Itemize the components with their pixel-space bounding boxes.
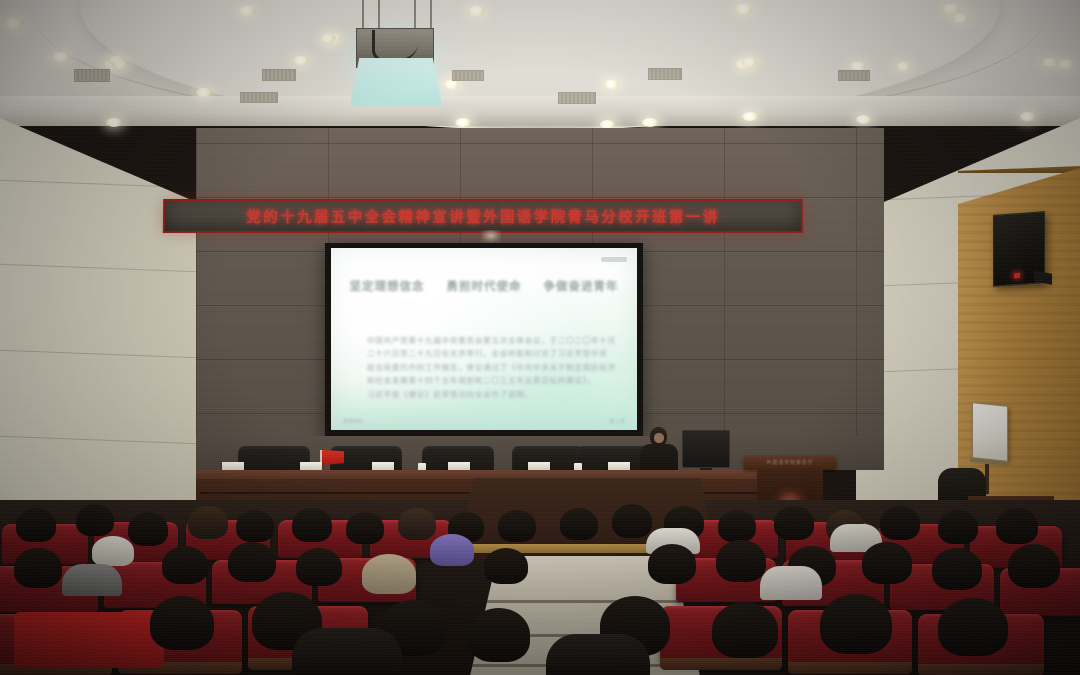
audience-person [228,542,276,582]
audience-person [932,548,982,590]
banner-center-emblem [481,230,501,243]
audience-person-torso [292,628,402,675]
projection-screen-frame: 坚定理想信念 勇担时代使命 争做奋进青年 中国共产党第十九届中央委员会第五次全体… [325,243,643,436]
downlight [238,6,256,16]
slide-body-line: 和社会发展第十四个五年规划和二〇三五年远景目标的建议》， [367,374,615,387]
slide-title: 坚定理想信念 勇担时代使命 争做奋进青年 [331,278,637,294]
wall-seam [0,350,224,360]
downlight [293,56,309,65]
event-banner: 党的十九届五中全会精神宣讲暨外国语学院青马分校开班第一讲 [163,199,803,233]
slide-footer-left: 宣讲材料 [343,418,363,424]
ceiling-soffit [0,96,1080,126]
slide-footer-right: 第 1 页 [609,418,625,424]
audience-person [820,594,892,654]
slide-body-line: 习近平就《建议》起草情况向全会作了说明。 [367,388,615,401]
audience-person [774,506,814,540]
audience-person [648,544,696,584]
audience-person [484,548,528,584]
downlight [1020,112,1035,121]
audience-person [938,510,978,544]
downlight [1058,60,1074,69]
head-table-top [196,470,764,479]
presenter-face [654,433,664,443]
audience-seat-back-trim [788,662,912,674]
speaker-power-led [1014,273,1020,278]
audience-person [938,598,1008,656]
event-banner-text: 党的十九届五中全会精神宣讲暨外国语学院青马分校开班第一讲 [246,206,719,227]
slide-footer: 宣讲材料 第 1 页 [343,418,625,424]
projector-rod [430,0,432,30]
audience-person [468,608,530,662]
audience-person-torso [760,566,822,600]
slide-body-line: 中国共产党第十九届中央委员会第五次全体会议，于二〇二〇年十月 [367,334,615,347]
podium-plaque: 外国语学院报告厅 [750,458,830,467]
audience-seat-back-trim [660,658,782,670]
whiteboard [972,402,1008,462]
audience-person-torso [546,634,650,675]
audience-person [162,546,208,584]
slide-title-segment: 争做奋进青年 [544,278,619,294]
downlight [196,88,212,97]
audience-person [498,510,536,542]
projection-screen: 坚定理想信念 勇担时代使命 争做奋进青年 中国共产党第十九届中央委员会第五次全体… [331,248,637,430]
presenter-monitor [682,430,730,468]
ceiling-vent [74,69,110,82]
ceiling-vent [262,69,296,81]
china-flag [322,450,344,465]
downlight [468,6,485,16]
audience-person [14,548,62,588]
downlight [896,62,911,71]
downlight [52,52,70,62]
downlight [642,118,658,127]
slide-body-line: 政治局委托作的工作报告，审议通过了《中共中央关于制定国民经济 [367,361,615,374]
audience-person-torso [62,564,122,596]
slide-title-segment: 坚定理想信念 [350,278,425,294]
audience-seat-back-trim [918,664,1044,675]
projector-lens [350,58,442,106]
audience-person-cap [362,554,416,594]
slide-body-line: 二十六日至二十九日在北京举行。全会听取和讨论了习近平受中央 [367,347,615,360]
audience-person [718,510,756,542]
audience-person-cap [430,534,474,566]
slide-body: 中国共产党第十九届中央委员会第五次全体会议，于二〇二〇年十月 二十六日至二十九日… [367,334,615,401]
audience-person [188,506,228,539]
audience-person [560,508,598,540]
downlight [735,4,753,14]
audience-person [1008,544,1060,588]
downlight [856,115,871,124]
downlight [455,118,471,127]
wall-seam [0,264,224,274]
audience-person [150,596,214,650]
audience-person [76,504,114,536]
ceiling-vent [648,68,682,80]
aisle-step [476,600,694,603]
audience-person [296,548,342,586]
ceiling-vent [558,92,596,104]
ceiling-projector [326,0,466,108]
red-bag [14,612,164,668]
ceiling-vent [838,70,870,81]
audience-person-cap [92,536,134,566]
audience-person [862,542,912,584]
downlight [742,58,757,67]
projector-rod [378,0,380,30]
audience-person [612,504,652,538]
audience-person [346,512,384,544]
downlight [4,18,24,29]
audience-person [716,540,766,582]
left-wall [0,118,224,518]
audience-person [292,508,332,542]
downlight [112,60,128,69]
slide-title-segment: 勇担时代使命 [447,278,522,294]
audience-person [16,508,56,542]
audience-person [712,602,778,658]
downlight [952,14,969,23]
downlight [1042,58,1058,67]
wall-seam [0,180,224,190]
audience-person [880,506,920,540]
downlight [106,118,122,127]
wall-seam [0,436,224,446]
downlight [942,4,960,14]
ceiling-vent [240,92,278,103]
audience-person [398,508,436,540]
lecture-hall-photo: 党的十九届五中全会精神宣讲暨外国语学院青马分校开班第一讲 坚定理想信念 勇担时代… [0,0,1080,675]
audience-person [128,512,168,546]
downlight [742,112,758,121]
downlight [604,80,619,89]
audience-person [996,508,1038,544]
slide-logo-mark [601,257,627,262]
audience-person [236,510,274,542]
